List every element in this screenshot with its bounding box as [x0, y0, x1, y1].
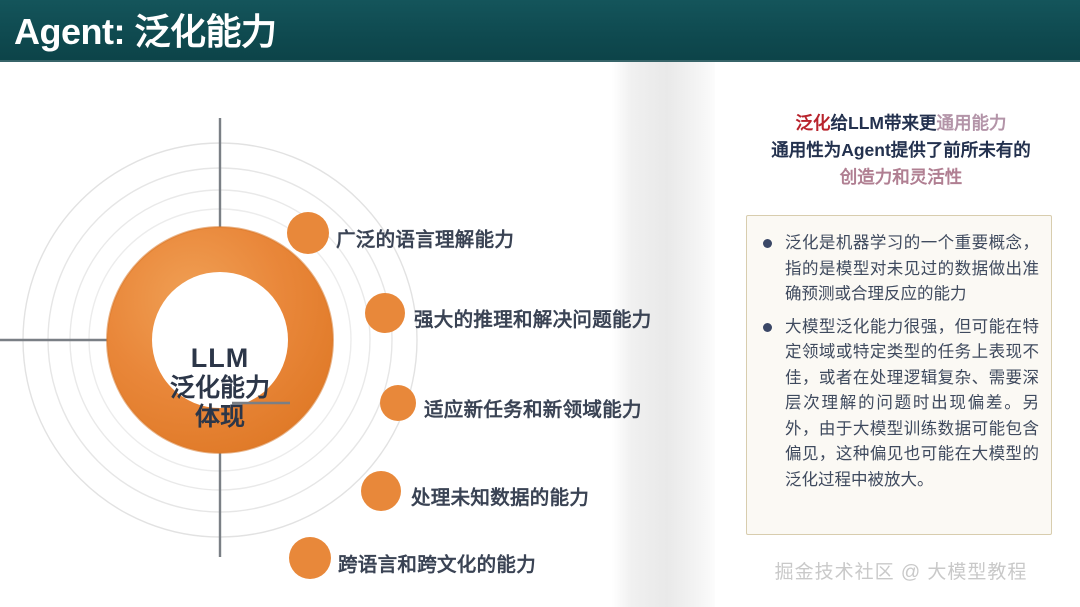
node-label-3: 适应新任务和新领域能力: [424, 393, 642, 422]
bullet-text: 泛化是机器学习的一个重要概念，指的是模型对未见过的数据做出准确预测或合理反应的能…: [785, 233, 1039, 303]
bullet-text: 大模型泛化能力很强，但可能在特定领域或特定类型的任务上表现不佳，或者在处理逻辑复…: [785, 317, 1039, 489]
title-emphasis-generalization: 泛化: [796, 113, 831, 133]
node-label-5: 跨语言和跨文化的能力: [338, 548, 536, 577]
right-panel-title-line2: 通用性为Agent提供了前所未有的: [728, 137, 1074, 164]
title-line1-mid: 给LLM带来更: [831, 113, 937, 133]
right-panel-title-line1: 泛化给LLM带来更通用能力: [728, 110, 1074, 137]
diagram-svg: [0, 60, 700, 607]
bullet-item: 泛化是机器学习的一个重要概念，指的是模型对未见过的数据做出准确预测或合理反应的能…: [759, 230, 1039, 307]
node-label-4: 处理未知数据的能力: [411, 481, 589, 510]
slide-root: Agent: 泛化能力: [0, 0, 1080, 607]
right-panel-title-line3: 创造力和灵活性: [728, 164, 1074, 191]
node-dot-2[interactable]: [365, 293, 405, 333]
title-emphasis-general-ability: 通用能力: [936, 113, 1006, 133]
bullet-dot-icon: [763, 323, 772, 332]
page-title: Agent: 泛化能力: [14, 12, 276, 52]
right-panel-title: 泛化给LLM带来更通用能力 通用性为Agent提供了前所未有的 创造力和灵活性: [728, 110, 1074, 191]
description-bullet-list: 泛化是机器学习的一个重要概念，指的是模型对未见过的数据做出准确预测或合理反应的能…: [759, 230, 1039, 492]
node-label-2: 强大的推理和解决问题能力: [414, 303, 652, 332]
right-panel: 泛化给LLM带来更通用能力 通用性为Agent提供了前所未有的 创造力和灵活性 …: [722, 60, 1080, 607]
node-label-1: 广泛的语言理解能力: [336, 223, 514, 252]
donut-center-hole: [152, 272, 288, 408]
bullet-item: 大模型泛化能力很强，但可能在特定领域或特定类型的任务上表现不佳，或者在处理逻辑复…: [759, 314, 1039, 493]
node-dot-3[interactable]: [380, 385, 416, 421]
bullet-dot-icon: [763, 239, 772, 248]
generalization-diagram: LLM 泛化能力 体现 广泛的语言理解能力 强大的推理和解决问题能力 适应新任务…: [0, 60, 700, 607]
watermark: 掘金技术社区 @ 大模型教程: [722, 557, 1080, 584]
node-dot-5[interactable]: [289, 537, 331, 579]
node-dot-4[interactable]: [361, 471, 401, 511]
node-dot-1[interactable]: [287, 212, 329, 254]
description-box: 泛化是机器学习的一个重要概念，指的是模型对未见过的数据做出准确预测或合理反应的能…: [746, 215, 1052, 535]
